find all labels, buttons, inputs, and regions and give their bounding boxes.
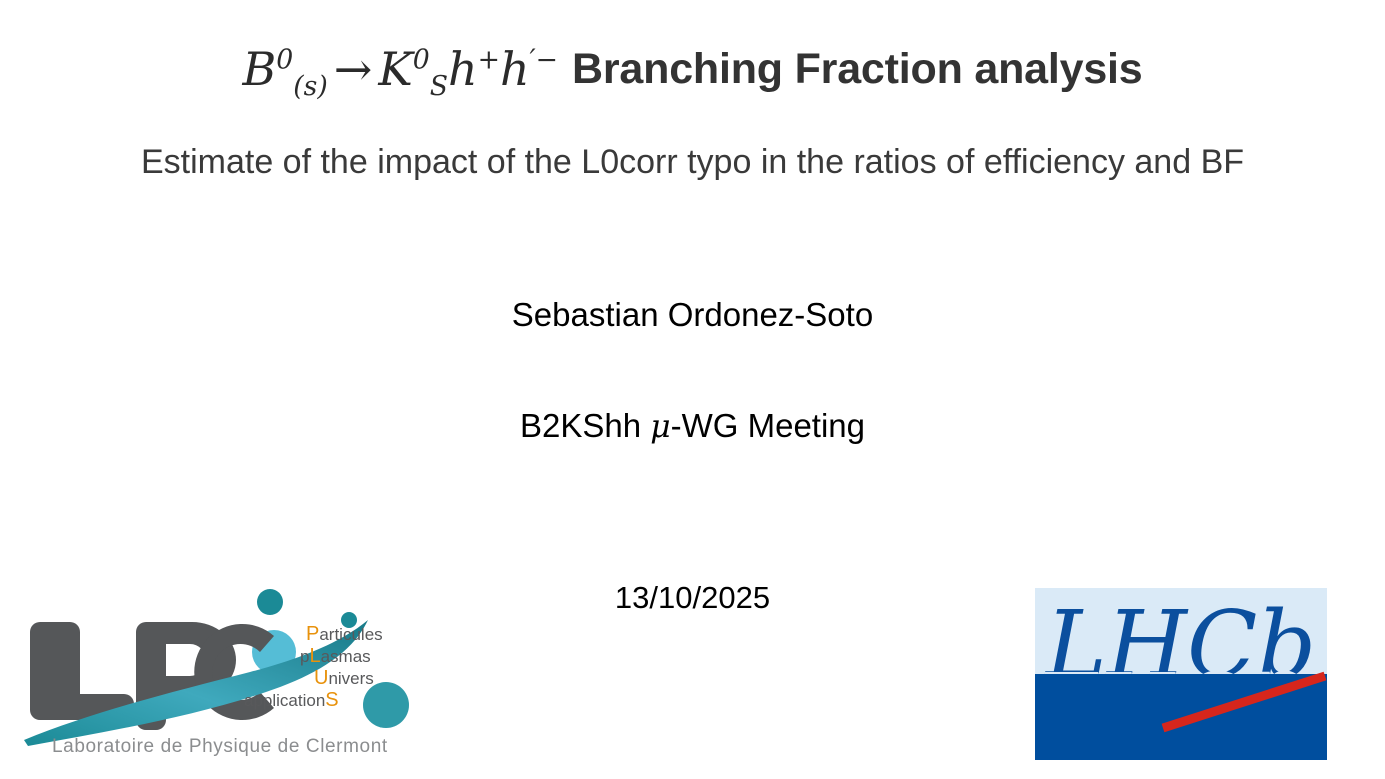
formula-b-superscript: 0 xyxy=(276,45,293,76)
formula-k-subscript: S xyxy=(430,71,448,102)
meeting-prefix: B2KShh xyxy=(520,407,650,444)
formula-h-first-charge: + xyxy=(478,45,500,76)
formula-arrow: → xyxy=(328,42,379,96)
lpc-dot-large-lower-icon xyxy=(363,682,409,728)
formula-k-superscript: 0 xyxy=(413,45,430,76)
lpc-dot-large-upper-icon xyxy=(257,589,283,615)
formula-b-subscript: (s) xyxy=(293,71,328,102)
formula-h-second: h xyxy=(500,42,530,96)
formula-h-second-charge: − xyxy=(536,45,558,76)
meeting-mu-symbol: μ xyxy=(650,409,670,445)
slide-subtitle: Estimate of the impact of the L0corr typ… xyxy=(0,142,1385,183)
title-formula: B0(s)→K0Sh+h′− xyxy=(242,46,558,101)
lpc-word-plasmas: pLasmas xyxy=(300,645,371,667)
author-name: Sebastian Ordonez-Soto xyxy=(0,296,1385,334)
formula-b: B xyxy=(242,42,276,96)
title-text: Branching Fraction analysis xyxy=(572,45,1142,93)
lpc-word-applications: applicationS xyxy=(244,689,339,711)
slide-title: B0(s)→K0Sh+h′− Branching Fraction analys… xyxy=(0,44,1385,99)
formula-h-first: h xyxy=(448,42,478,96)
lpc-word-particules: Particules xyxy=(306,623,383,645)
lhcb-logo: LHCb LHCb xyxy=(1035,588,1327,760)
meeting-name: B2KShh μ-WG Meeting xyxy=(0,407,1385,445)
lpc-word-univers: Univers xyxy=(314,667,374,689)
formula-k: K xyxy=(378,42,412,96)
meeting-suffix: -WG Meeting xyxy=(671,407,865,444)
lpc-tagline: Laboratoire de Physique de Clermont xyxy=(52,736,388,757)
lpc-logo: Particules pLasmas Univers applicationS … xyxy=(22,580,442,760)
